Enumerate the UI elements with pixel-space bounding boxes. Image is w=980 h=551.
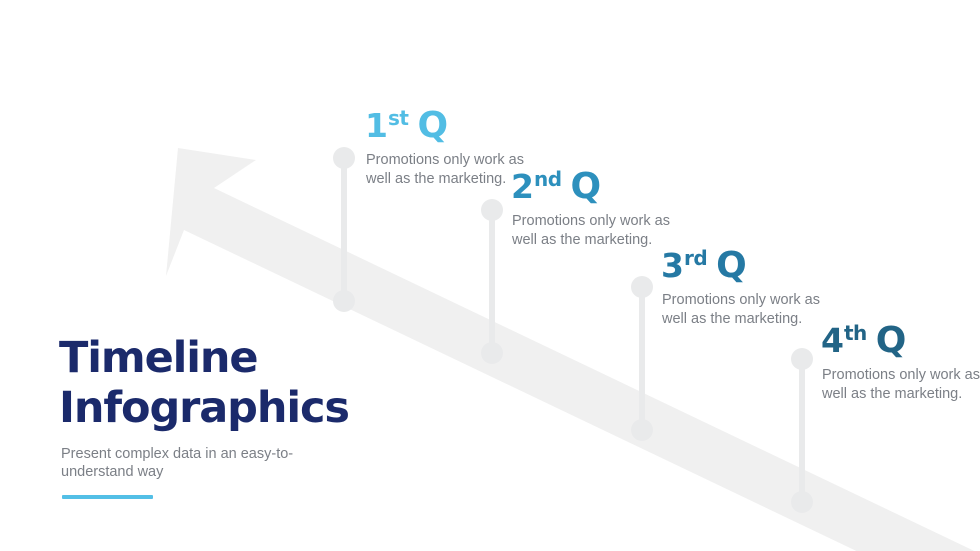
- milestone-body-text: Promotions only work as well as the mark…: [662, 291, 837, 328]
- milestone-q4: 4thQ Promotions only work as well as the…: [821, 323, 980, 403]
- milestone-heading: 1stQ: [365, 108, 555, 144]
- page-title: Timeline Infographics: [59, 333, 359, 433]
- pin-knob-bottom-icon: [481, 342, 503, 364]
- milestone-pin-q1: [333, 147, 355, 312]
- pin-knob-bottom-icon: [631, 419, 653, 441]
- milestone-ordinal-suffix: th: [844, 321, 867, 345]
- milestone-ordinal-number: 3: [661, 246, 684, 285]
- milestone-q-mark: Q: [876, 320, 907, 361]
- milestone-heading: 3rdQ: [661, 248, 851, 284]
- milestone-ordinal-number: 4: [821, 321, 844, 360]
- milestone-ordinal-number: 1: [365, 106, 388, 145]
- milestone-q-mark: Q: [417, 105, 448, 146]
- milestone-q-mark: Q: [571, 166, 602, 207]
- milestone-q2: 2ndQ Promotions only work as well as the…: [511, 169, 701, 249]
- title-accent-bar: [62, 495, 153, 499]
- pin-stem: [489, 209, 495, 354]
- milestone-pin-q4: [791, 348, 813, 513]
- pin-stem: [639, 286, 645, 431]
- milestone-pin-q2: [481, 199, 503, 364]
- page-subtitle: Present complex data in an easy-to-under…: [61, 445, 316, 481]
- milestone-pin-q3: [631, 276, 653, 441]
- milestone-q-mark: Q: [716, 245, 747, 286]
- pin-stem: [799, 358, 805, 503]
- title-block: Timeline Infographics Present complex da…: [59, 333, 359, 481]
- milestone-body-text: Promotions only work as well as the mark…: [822, 366, 980, 403]
- milestone-ordinal-suffix: st: [388, 106, 408, 130]
- milestone-ordinal-number: 2: [511, 167, 534, 206]
- pin-knob-bottom-icon: [791, 491, 813, 513]
- pin-knob-bottom-icon: [333, 290, 355, 312]
- milestone-heading: 2ndQ: [511, 169, 701, 205]
- milestone-ordinal-suffix: nd: [534, 167, 562, 191]
- milestone-heading: 4thQ: [821, 323, 980, 359]
- milestone-ordinal-suffix: rd: [684, 246, 707, 270]
- milestone-body-text: Promotions only work as well as the mark…: [512, 212, 687, 249]
- pin-stem: [341, 157, 347, 302]
- timeline-infographic-slide: Timeline Infographics Present complex da…: [0, 0, 980, 551]
- milestone-q3: 3rdQ Promotions only work as well as the…: [661, 248, 851, 328]
